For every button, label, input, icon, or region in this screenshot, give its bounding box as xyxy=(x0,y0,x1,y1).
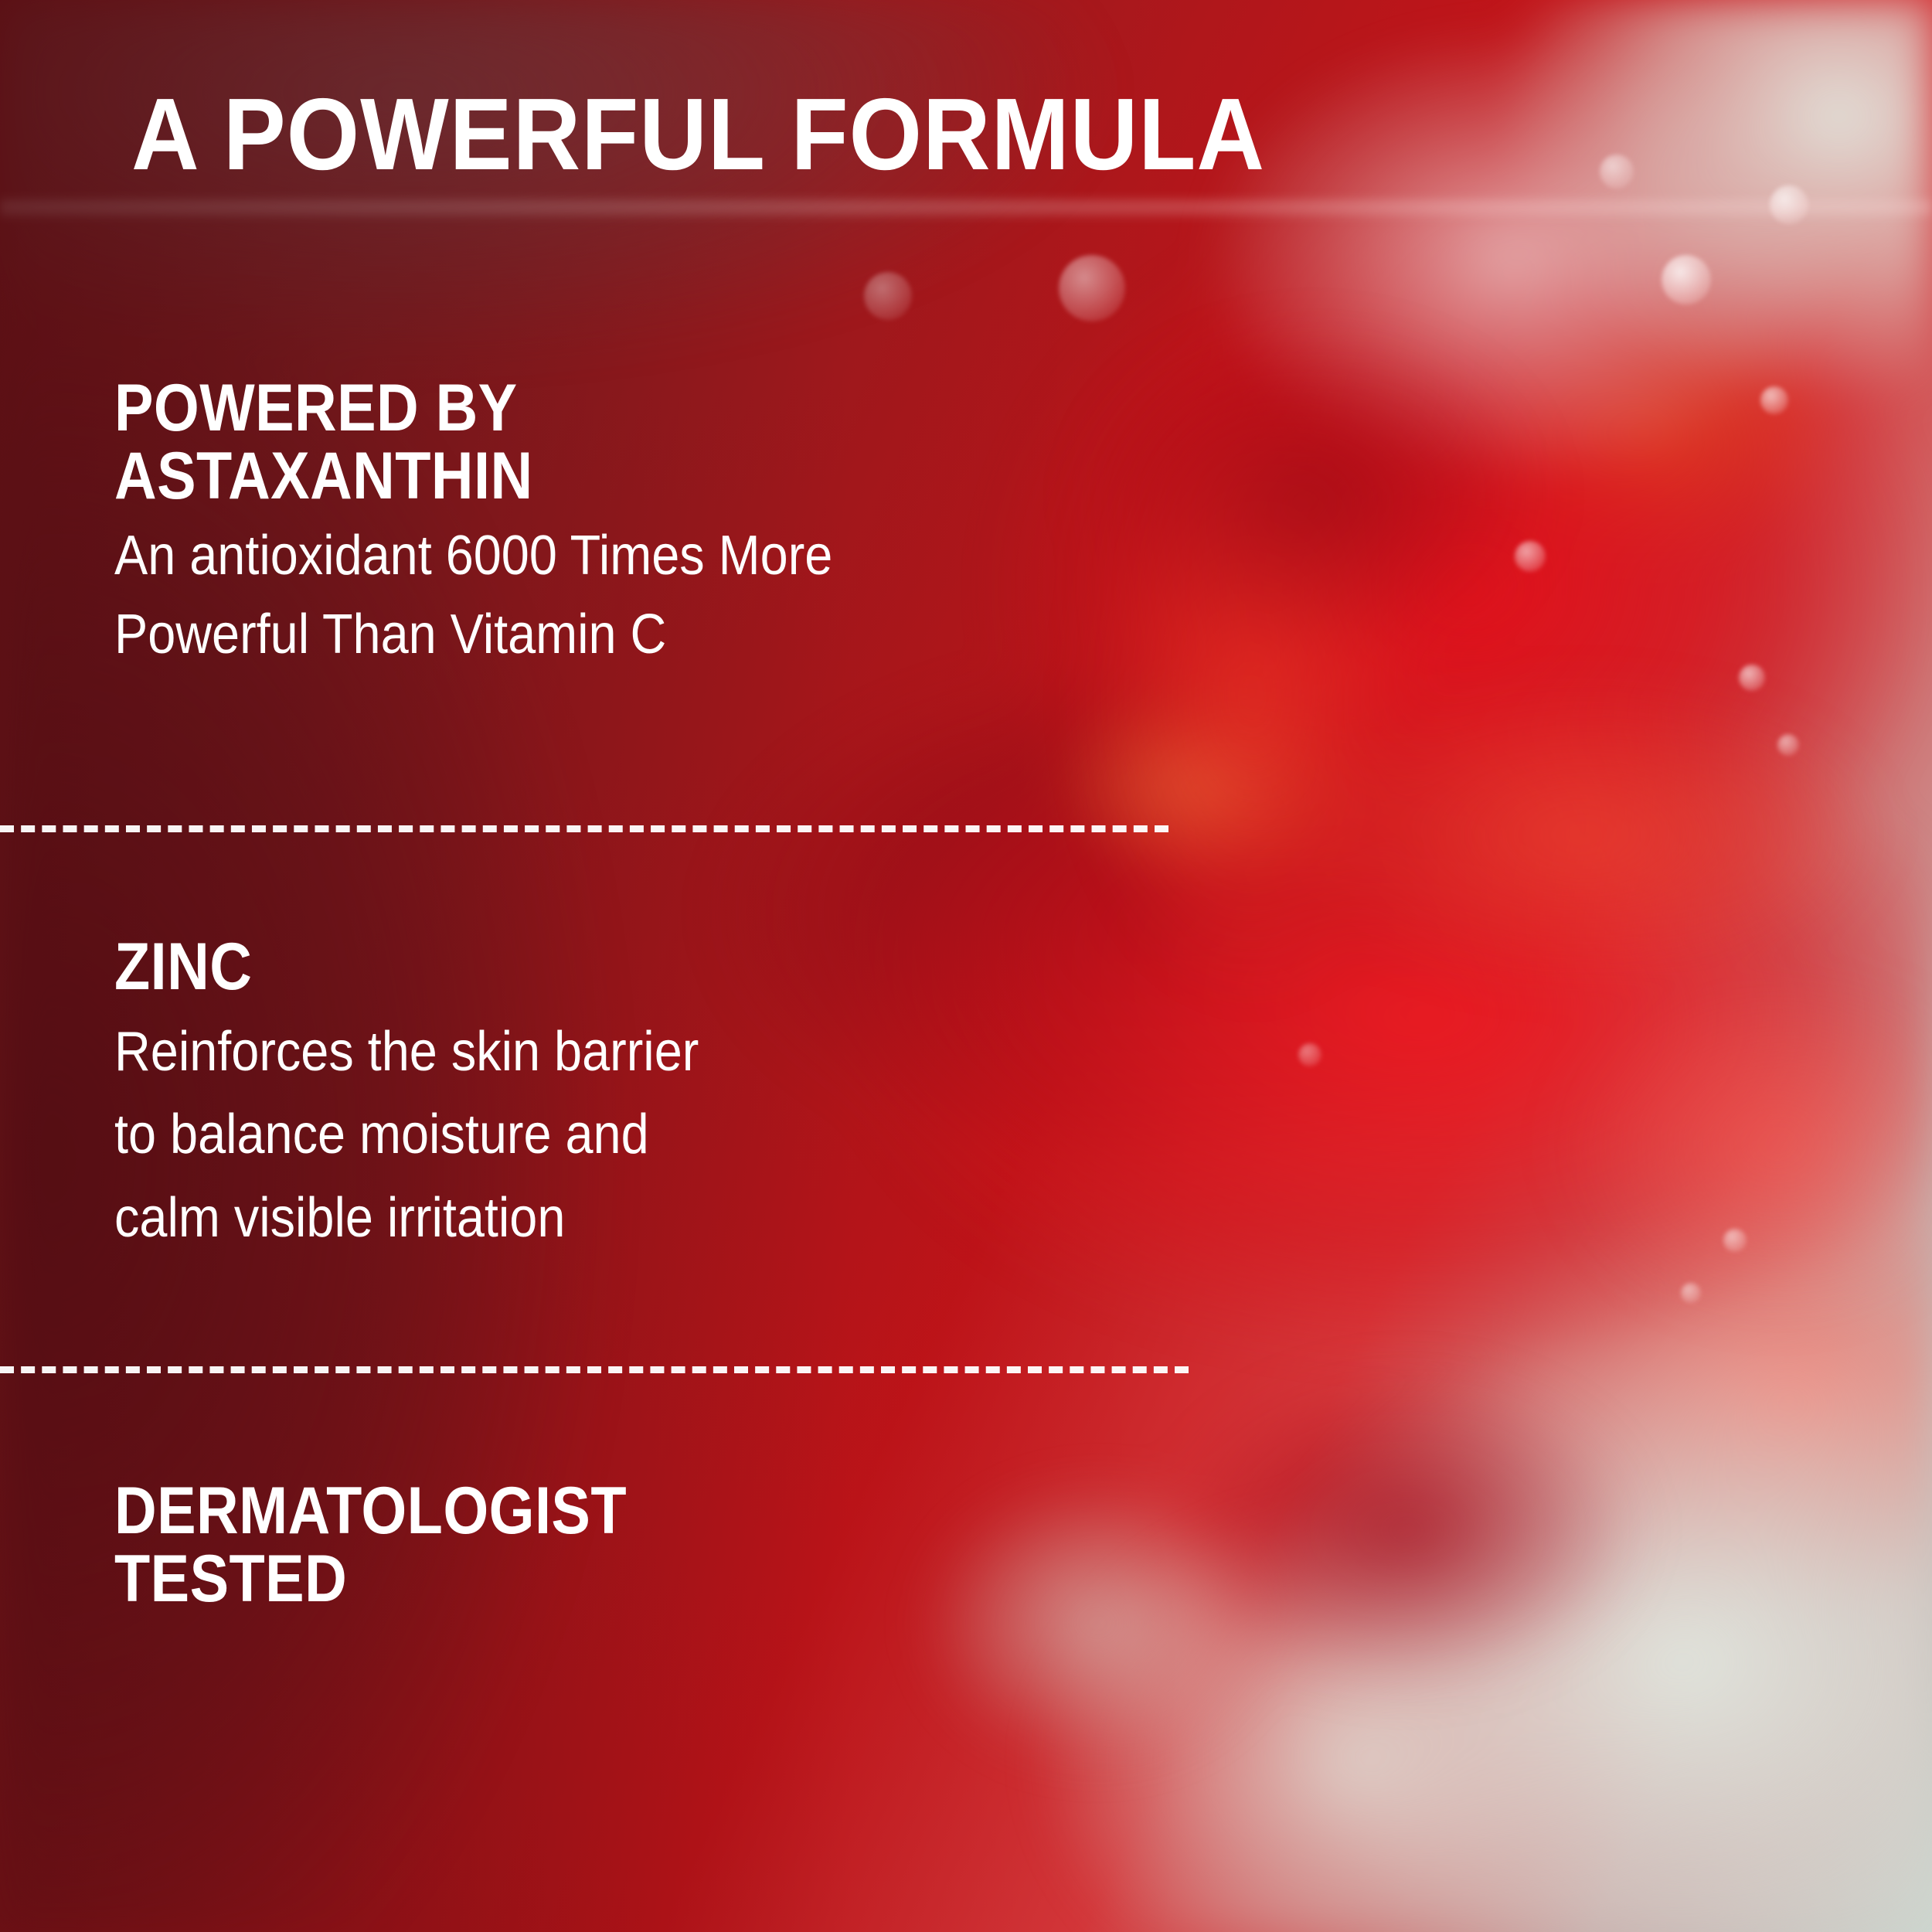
section-dermatologist-title-line1: DERMATOLOGIST xyxy=(114,1478,627,1546)
section-zinc: ZINC Reinforces the skin barrier to bala… xyxy=(114,934,764,1250)
page-title: A POWERFUL FORMULA xyxy=(131,83,1265,185)
section-astaxanthin-body-line2: Powerful Than Vitamin C xyxy=(114,603,832,668)
section-divider xyxy=(0,1366,1189,1373)
section-zinc-body-line1: Reinforces the skin barrier xyxy=(114,1020,699,1085)
section-astaxanthin-title-line1: POWERED BY xyxy=(114,375,817,443)
section-divider xyxy=(0,825,1168,832)
section-astaxanthin-title-line2: ASTAXANTHIN xyxy=(114,443,817,511)
section-zinc-body-line2: to balance moisture and xyxy=(114,1103,699,1168)
section-dermatologist-tested: DERMATOLOGIST TESTED xyxy=(114,1478,696,1613)
promo-graphic: A POWERFUL FORMULA POWERED BY ASTAXANTHI… xyxy=(0,0,1932,1932)
section-dermatologist-title-line2: TESTED xyxy=(114,1546,627,1614)
section-zinc-title: ZINC xyxy=(114,934,686,1002)
section-astaxanthin: POWERED BY ASTAXANTHIN An antioxidant 60… xyxy=(114,375,913,667)
section-astaxanthin-body-line1: An antioxidant 6000 Times More xyxy=(114,524,832,589)
section-zinc-body-line3: calm visible irritation xyxy=(114,1186,699,1251)
